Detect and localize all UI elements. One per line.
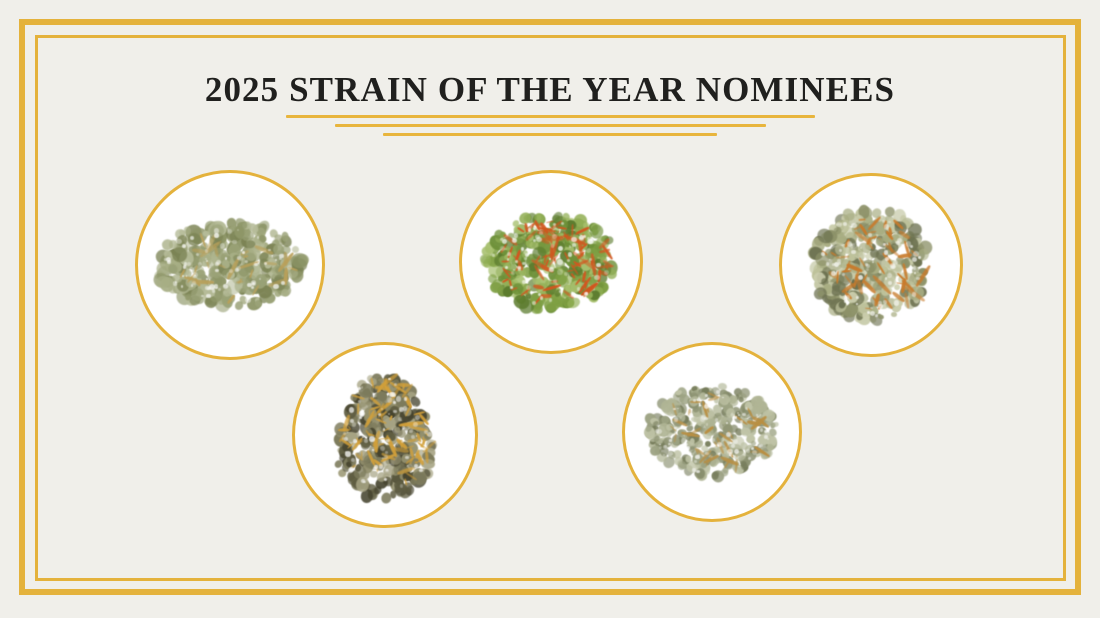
cannabis-bud-photo-4 <box>292 342 478 528</box>
title-divider-group <box>0 115 1100 142</box>
poster-canvas: 2025 STRAIN OF THE YEAR NOMINEES <box>0 0 1100 618</box>
cannabis-bud-photo-2 <box>459 170 643 354</box>
divider-rule-medium <box>335 124 766 127</box>
cannabis-bud-photo-1 <box>135 170 325 360</box>
divider-rule-short <box>383 133 717 136</box>
cannabis-bud-photo-5 <box>622 342 802 522</box>
page-title: 2025 STRAIN OF THE YEAR NOMINEES <box>0 70 1100 110</box>
cannabis-bud-photo-3 <box>779 173 963 357</box>
divider-rule-long <box>286 115 815 118</box>
